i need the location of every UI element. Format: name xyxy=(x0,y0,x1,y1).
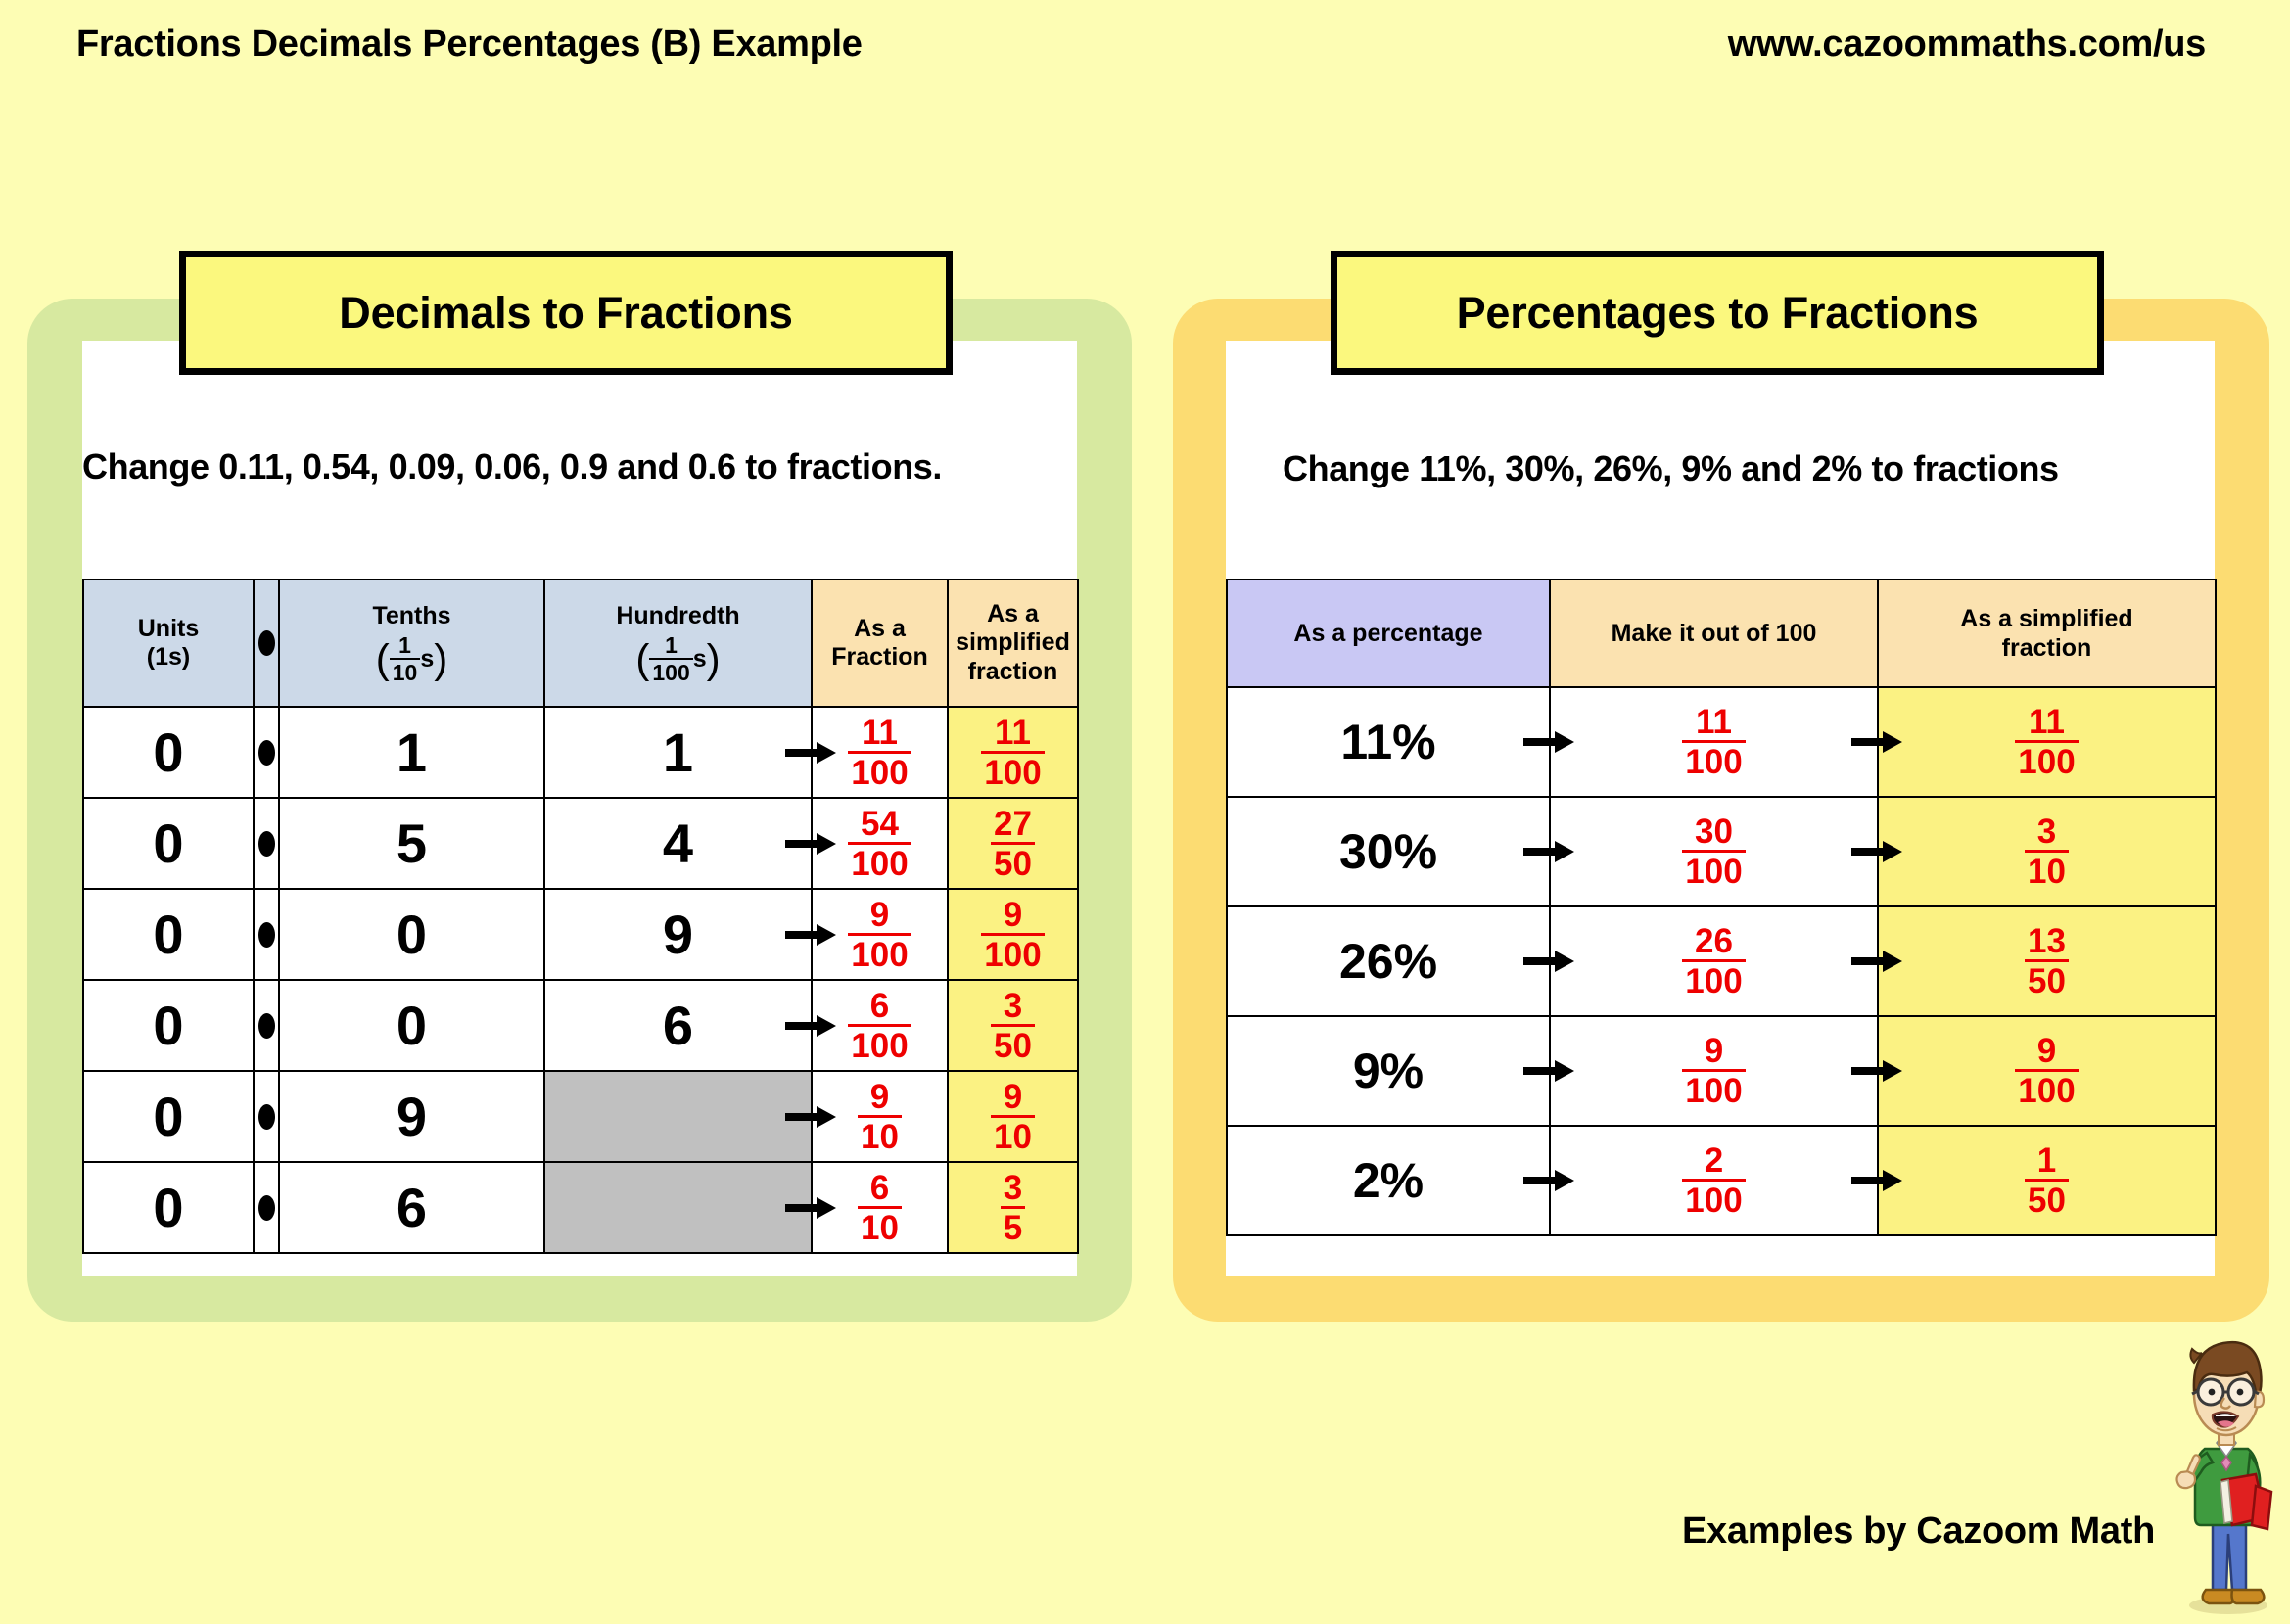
cell-as-simplified-fraction: 9100 xyxy=(1878,1016,2216,1126)
fraction: 9100 xyxy=(981,898,1044,972)
right-arrow-icon xyxy=(1851,1169,1902,1192)
col-header-hundredth: Hundredth (1100s) xyxy=(544,580,812,707)
cell-as-a-fraction: 6100 xyxy=(812,980,948,1071)
fraction-numerator: 3 xyxy=(1001,1171,1025,1209)
cell-percentage: 30% xyxy=(1227,797,1550,906)
fraction-numerator: 6 xyxy=(858,1171,902,1209)
fraction-denominator: 10 xyxy=(991,1118,1035,1154)
fraction-denominator: 50 xyxy=(991,845,1035,881)
fraction-denominator: 50 xyxy=(2025,962,2069,998)
decimal-point-dot-icon xyxy=(258,831,275,857)
right-arrow-icon xyxy=(785,1196,836,1220)
fraction-numerator: 9 xyxy=(1682,1034,1745,1072)
col-header-as-a-fraction: As a Fraction xyxy=(812,580,948,707)
fraction-numerator: 3 xyxy=(2025,814,2069,853)
table-row: 0661035 xyxy=(83,1162,1078,1253)
fraction-numerator: 13 xyxy=(2025,924,2069,962)
cell-percentage: 2% xyxy=(1227,1126,1550,1235)
cell-out-of-100: 11100 xyxy=(1550,687,1878,797)
fraction-numerator: 11 xyxy=(848,716,911,754)
fraction-denominator: 100 xyxy=(848,1027,911,1063)
fraction: 150 xyxy=(2025,1143,2069,1218)
cell-hundredths: 4 xyxy=(544,798,812,889)
tenths-unit: s xyxy=(420,645,434,673)
percentages-title-text: Percentages to Fractions xyxy=(1457,288,1979,339)
decimals-instruction: Change 0.11, 0.54, 0.09, 0.06, 0.9 and 0… xyxy=(82,446,942,487)
cell-decimal-point xyxy=(254,980,279,1071)
hundredth-label: Hundredth xyxy=(545,602,811,631)
col-header-units: Units (1s) xyxy=(83,580,254,707)
right-arrow-icon xyxy=(785,1014,836,1038)
hundredth-fraction: 1100 xyxy=(649,634,692,684)
cell-tenths: 0 xyxy=(279,889,544,980)
cell-hundredths-empty xyxy=(544,1071,812,1162)
fraction-denominator: 100 xyxy=(2015,743,2078,779)
percentages-instruction: Change 11%, 30%, 26%, 9% and 2% to fract… xyxy=(1283,448,2059,489)
col-header-tenths: Tenths (110s) xyxy=(279,580,544,707)
fraction: 610 xyxy=(858,1171,902,1245)
tenths-fraction: 110 xyxy=(390,634,421,684)
table-row: 09910910 xyxy=(83,1071,1078,1162)
fraction: 6100 xyxy=(848,989,911,1063)
right-arrow-icon xyxy=(1851,1059,1902,1083)
cell-hundredths-empty xyxy=(544,1162,812,1253)
fraction-numerator: 9 xyxy=(2015,1034,2078,1072)
units-label: Units xyxy=(84,615,253,644)
percentages-table-body: 11%111001110030%3010031026%2610013509%91… xyxy=(1227,687,2216,1235)
cell-units: 0 xyxy=(83,889,254,980)
cell-as-a-fraction: 11100 xyxy=(812,707,948,798)
fraction: 11100 xyxy=(2015,705,2078,779)
cell-out-of-100: 2100 xyxy=(1550,1126,1878,1235)
hundredth-unit: s xyxy=(693,645,707,673)
right-arrow-icon xyxy=(1851,950,1902,973)
cell-units: 0 xyxy=(83,1162,254,1253)
fraction: 11100 xyxy=(848,716,911,790)
fraction-numerator: 9 xyxy=(991,1080,1035,1118)
cell-tenths: 6 xyxy=(279,1162,544,1253)
fraction-numerator: 11 xyxy=(2015,705,2078,743)
fraction-numerator: 27 xyxy=(991,807,1035,845)
right-arrow-icon xyxy=(785,1105,836,1129)
tenths-label: Tenths xyxy=(280,602,543,631)
table-header-row: Units (1s) Tenths (110s) Hundredth (1100… xyxy=(83,580,1078,707)
right-arrow-icon xyxy=(785,832,836,856)
table-row: 054541002750 xyxy=(83,798,1078,889)
fraction-denominator: 100 xyxy=(848,845,911,881)
fraction-denominator: 100 xyxy=(1682,1182,1745,1218)
col-header-make-out-of-100: Make it out of 100 xyxy=(1550,580,1878,687)
fraction-denominator: 100 xyxy=(1682,1072,1745,1108)
col-header-as-simplified: As a simplified fraction xyxy=(1878,580,2216,687)
page-header: Fractions Decimals Percentages (B) Examp… xyxy=(0,18,2290,76)
table-row: 11%1110011100 xyxy=(1227,687,2216,797)
fraction: 26100 xyxy=(1682,924,1745,998)
cell-as-simplified-fraction: 350 xyxy=(948,980,1078,1071)
fraction: 1350 xyxy=(2025,924,2069,998)
site-url: www.cazoommaths.com/us xyxy=(1728,23,2206,66)
cell-as-a-fraction: 9100 xyxy=(812,889,948,980)
fraction-numerator: 1 xyxy=(2025,1143,2069,1182)
right-arrow-icon xyxy=(785,741,836,765)
cell-as-simplified-fraction: 1350 xyxy=(1878,906,2216,1016)
table-row: 9%91009100 xyxy=(1227,1016,2216,1126)
cell-hundredths: 1 xyxy=(544,707,812,798)
decimal-point-dot-icon xyxy=(258,630,275,656)
cell-as-simplified-fraction: 11100 xyxy=(948,707,1078,798)
decimals-table-body: 0111110011100054541002750009910091000066… xyxy=(83,707,1078,1253)
cell-decimal-point xyxy=(254,707,279,798)
fraction-numerator: 30 xyxy=(1682,814,1745,853)
fraction-denominator: 100 xyxy=(2015,1072,2078,1108)
cell-tenths: 9 xyxy=(279,1071,544,1162)
fraction-denominator: 100 xyxy=(1682,962,1745,998)
cell-decimal-point xyxy=(254,798,279,889)
fraction-numerator: 3 xyxy=(991,989,1035,1027)
cell-decimal-point xyxy=(254,1162,279,1253)
cell-as-simplified-fraction: 150 xyxy=(1878,1126,2216,1235)
tenths-open-paren: ( xyxy=(376,636,390,682)
decimal-point-header xyxy=(254,580,279,707)
fraction: 11100 xyxy=(1682,705,1745,779)
fraction-numerator: 11 xyxy=(1682,705,1745,743)
right-arrow-icon xyxy=(785,923,836,947)
fraction-denominator: 100 xyxy=(848,936,911,972)
fraction: 910 xyxy=(858,1080,902,1154)
fraction: 2750 xyxy=(991,807,1035,881)
footer-credit: Examples by Cazoom Math xyxy=(1682,1510,2155,1553)
decimal-point-dot-icon xyxy=(258,1013,275,1039)
decimal-point-dot-icon xyxy=(258,1104,275,1130)
fraction-numerator: 9 xyxy=(858,1080,902,1118)
page-title: Fractions Decimals Percentages (B) Examp… xyxy=(76,23,863,66)
table-row: 0066100350 xyxy=(83,980,1078,1071)
right-arrow-icon xyxy=(1523,730,1574,754)
tenths-close-paren: ) xyxy=(434,636,447,682)
units-sublabel: (1s) xyxy=(84,643,253,673)
cell-as-a-fraction: 610 xyxy=(812,1162,948,1253)
fraction: 11100 xyxy=(981,716,1044,790)
fraction-denominator: 50 xyxy=(991,1027,1035,1063)
table-row: 00991009100 xyxy=(83,889,1078,980)
fraction: 350 xyxy=(991,989,1035,1063)
cell-tenths: 1 xyxy=(279,707,544,798)
right-arrow-icon xyxy=(1523,840,1574,863)
cell-as-simplified-fraction: 35 xyxy=(948,1162,1078,1253)
cell-units: 0 xyxy=(83,980,254,1071)
cell-tenths: 0 xyxy=(279,980,544,1071)
cell-hundredths: 9 xyxy=(544,889,812,980)
table-row: 26%261001350 xyxy=(1227,906,2216,1016)
fraction-denominator: 10 xyxy=(858,1118,902,1154)
hundredth-close-paren: ) xyxy=(707,636,721,682)
fraction-denominator: 10 xyxy=(2025,853,2069,889)
cell-as-simplified-fraction: 310 xyxy=(1878,797,2216,906)
mascot-teacher-illustration xyxy=(2162,1333,2290,1619)
decimals-title-text: Decimals to Fractions xyxy=(339,288,792,339)
fraction: 35 xyxy=(1001,1171,1025,1245)
fraction-denominator: 10 xyxy=(858,1209,902,1245)
fraction-numerator: 9 xyxy=(848,898,911,936)
fraction-denominator: 100 xyxy=(848,754,911,790)
fraction-numerator: 54 xyxy=(848,807,911,845)
cell-out-of-100: 9100 xyxy=(1550,1016,1878,1126)
cell-as-a-fraction: 54100 xyxy=(812,798,948,889)
right-arrow-icon xyxy=(1523,950,1574,973)
fraction-numerator: 6 xyxy=(848,989,911,1027)
decimals-to-fractions-table: Units (1s) Tenths (110s) Hundredth (1100… xyxy=(82,579,1079,1254)
fraction-denominator: 5 xyxy=(1001,1209,1025,1245)
fraction-numerator: 2 xyxy=(1682,1143,1745,1182)
cell-hundredths: 6 xyxy=(544,980,812,1071)
table-header-row: As a percentage Make it out of 100 As a … xyxy=(1227,580,2216,687)
fraction-denominator: 100 xyxy=(981,936,1044,972)
fraction: 2100 xyxy=(1682,1143,1745,1218)
cell-decimal-point xyxy=(254,1071,279,1162)
hundredth-open-paren: ( xyxy=(635,636,649,682)
tenths-fraction-group: (110s) xyxy=(280,634,543,684)
percentages-title-plaque: Percentages to Fractions xyxy=(1331,251,2104,375)
cell-out-of-100: 30100 xyxy=(1550,797,1878,906)
fraction: 9100 xyxy=(1682,1034,1745,1108)
cell-as-a-fraction: 910 xyxy=(812,1071,948,1162)
cell-percentage: 26% xyxy=(1227,906,1550,1016)
fraction-denominator: 100 xyxy=(1682,853,1745,889)
right-arrow-icon xyxy=(1523,1059,1574,1083)
fraction-numerator: 11 xyxy=(981,716,1044,754)
cell-units: 0 xyxy=(83,1071,254,1162)
right-arrow-icon xyxy=(1851,840,1902,863)
table-row: 30%30100310 xyxy=(1227,797,2216,906)
cell-units: 0 xyxy=(83,707,254,798)
cell-as-simplified-fraction: 2750 xyxy=(948,798,1078,889)
fraction: 9100 xyxy=(2015,1034,2078,1108)
fraction: 30100 xyxy=(1682,814,1745,889)
cell-as-simplified-fraction: 9100 xyxy=(948,889,1078,980)
decimal-point-dot-icon xyxy=(258,922,275,948)
table-row: 2%2100150 xyxy=(1227,1126,2216,1235)
fraction-numerator: 26 xyxy=(1682,924,1745,962)
decimal-point-dot-icon xyxy=(258,1195,275,1221)
fraction-denominator: 100 xyxy=(981,754,1044,790)
col-header-as-simplified: As a simplified fraction xyxy=(948,580,1078,707)
right-arrow-icon xyxy=(1851,730,1902,754)
fraction: 310 xyxy=(2025,814,2069,889)
cell-decimal-point xyxy=(254,889,279,980)
decimals-title-plaque: Decimals to Fractions xyxy=(179,251,953,375)
fraction: 910 xyxy=(991,1080,1035,1154)
fraction: 54100 xyxy=(848,807,911,881)
percentages-to-fractions-table: As a percentage Make it out of 100 As a … xyxy=(1226,579,2217,1236)
cell-tenths: 5 xyxy=(279,798,544,889)
cell-percentage: 11% xyxy=(1227,687,1550,797)
fraction: 9100 xyxy=(848,898,911,972)
decimal-point-dot-icon xyxy=(258,740,275,766)
col-header-as-a-percentage: As a percentage xyxy=(1227,580,1550,687)
cell-as-simplified-fraction: 910 xyxy=(948,1071,1078,1162)
fraction-denominator: 50 xyxy=(2025,1182,2069,1218)
cell-out-of-100: 26100 xyxy=(1550,906,1878,1016)
right-arrow-icon xyxy=(1523,1169,1574,1192)
fraction-numerator: 9 xyxy=(981,898,1044,936)
table-row: 0111110011100 xyxy=(83,707,1078,798)
cell-units: 0 xyxy=(83,798,254,889)
fraction-denominator: 100 xyxy=(1682,743,1745,779)
cell-as-simplified-fraction: 11100 xyxy=(1878,687,2216,797)
cell-percentage: 9% xyxy=(1227,1016,1550,1126)
hundredth-fraction-group: (1100s) xyxy=(545,634,811,684)
